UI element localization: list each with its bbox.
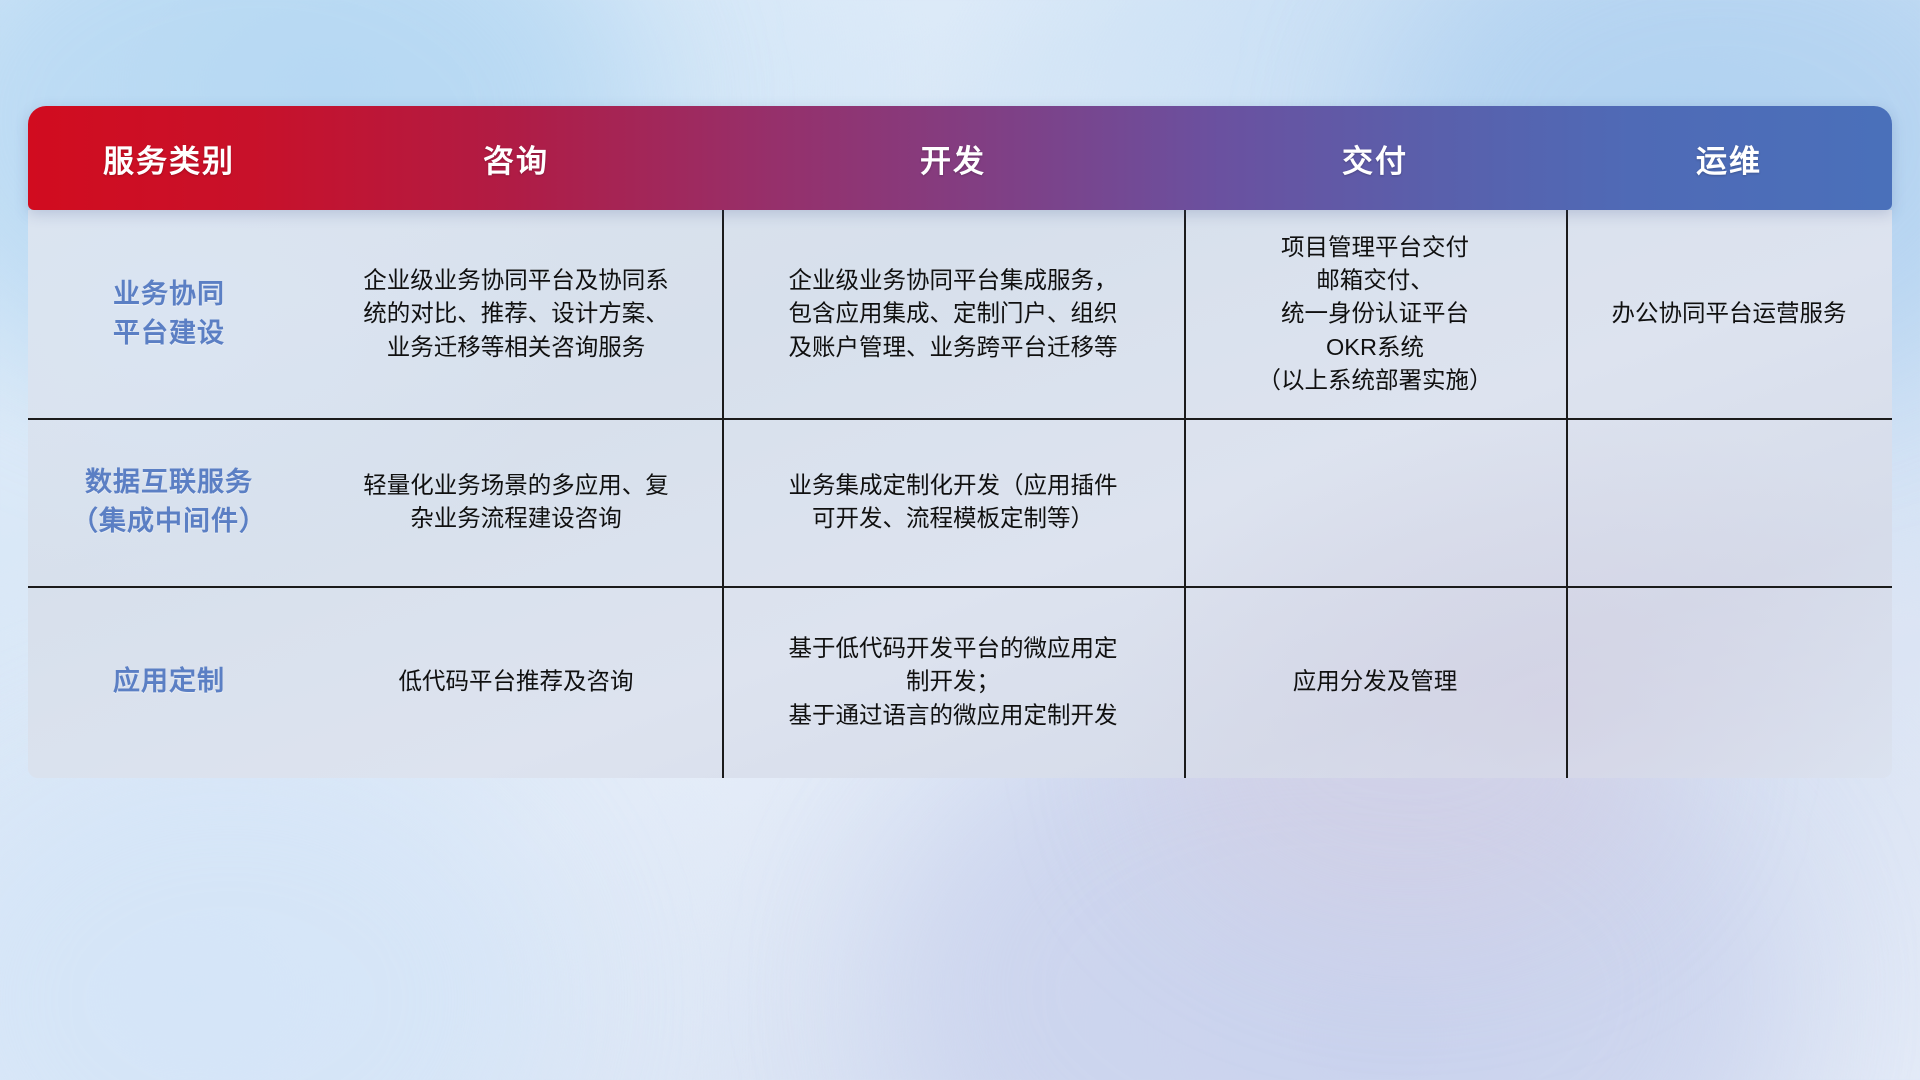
cell-text: 项目管理平台交付 邮箱交付、 统一身份认证平台 OKR系统 （以上系统部署实施）	[1258, 231, 1493, 398]
grid-vline-1	[722, 210, 724, 778]
cell-text: 低代码平台推荐及咨询	[399, 665, 634, 698]
table-body: 业务协同 平台建设 企业级业务协同平台及协同系 统的对比、推荐、设计方案、 业务…	[28, 210, 1892, 778]
cell-text: 业务集成定制化开发（应用插件 可开发、流程模板定制等）	[789, 469, 1118, 536]
grid-vline-2	[1184, 210, 1186, 778]
cell-delivery	[1184, 418, 1566, 586]
cell-text: 办公协同平台运营服务	[1612, 297, 1847, 330]
column-header-development: 开发	[722, 106, 1184, 210]
cell-operations	[1566, 586, 1892, 778]
grid-hline-1	[28, 418, 1892, 420]
cell-text: 基于低代码开发平台的微应用定 制开发； 基于通过语言的微应用定制开发	[789, 632, 1118, 732]
column-header-category: 服务类别	[28, 106, 310, 210]
table-row: 数据互联服务 （集成中间件） 轻量化业务场景的多应用、复 杂业务流程建设咨询 业…	[28, 418, 1892, 586]
row-label-cell: 数据互联服务 （集成中间件）	[28, 418, 310, 586]
cell-consulting: 轻量化业务场景的多应用、复 杂业务流程建设咨询	[310, 418, 722, 586]
cell-operations	[1566, 418, 1892, 586]
cell-development: 业务集成定制化开发（应用插件 可开发、流程模板定制等）	[722, 418, 1184, 586]
cell-text: 应用分发及管理	[1293, 665, 1458, 698]
cell-consulting: 低代码平台推荐及咨询	[310, 586, 722, 778]
row-label-text: 应用定制	[113, 662, 225, 701]
service-matrix-table: 服务类别 咨询 开发 交付 运维 业务协同 平台建设 企业级业务协同平台及协同系…	[28, 106, 1892, 778]
table-header-row: 服务类别 咨询 开发 交付 运维	[28, 106, 1892, 210]
column-header-operations: 运维	[1566, 106, 1892, 210]
cell-consulting: 企业级业务协同平台及协同系 统的对比、推荐、设计方案、 业务迁移等相关咨询服务	[310, 210, 722, 418]
row-label-cell: 业务协同 平台建设	[28, 210, 310, 418]
row-label-text: 业务协同 平台建设	[113, 275, 225, 353]
cell-operations: 办公协同平台运营服务	[1566, 210, 1892, 418]
cell-delivery: 项目管理平台交付 邮箱交付、 统一身份认证平台 OKR系统 （以上系统部署实施）	[1184, 210, 1566, 418]
row-label-cell: 应用定制	[28, 586, 310, 778]
row-label-text: 数据互联服务 （集成中间件）	[71, 463, 267, 541]
cell-text: 轻量化业务场景的多应用、复 杂业务流程建设咨询	[363, 469, 669, 536]
grid-hline-2	[28, 586, 1892, 588]
column-header-consulting: 咨询	[310, 106, 722, 210]
background-blob-bottom-left	[0, 740, 550, 1080]
table-row: 业务协同 平台建设 企业级业务协同平台及协同系 统的对比、推荐、设计方案、 业务…	[28, 210, 1892, 418]
table-row: 应用定制 低代码平台推荐及咨询 基于低代码开发平台的微应用定 制开发； 基于通过…	[28, 586, 1892, 778]
grid-vline-3	[1566, 210, 1568, 778]
column-header-delivery: 交付	[1184, 106, 1566, 210]
cell-text: 企业级业务协同平台及协同系 统的对比、推荐、设计方案、 业务迁移等相关咨询服务	[363, 264, 669, 364]
cell-text: 企业级业务协同平台集成服务， 包含应用集成、定制门户、组织 及账户管理、业务跨平…	[789, 264, 1118, 364]
cell-development: 基于低代码开发平台的微应用定 制开发； 基于通过语言的微应用定制开发	[722, 586, 1184, 778]
cell-development: 企业级业务协同平台集成服务， 包含应用集成、定制门户、组织 及账户管理、业务跨平…	[722, 210, 1184, 418]
cell-delivery: 应用分发及管理	[1184, 586, 1566, 778]
